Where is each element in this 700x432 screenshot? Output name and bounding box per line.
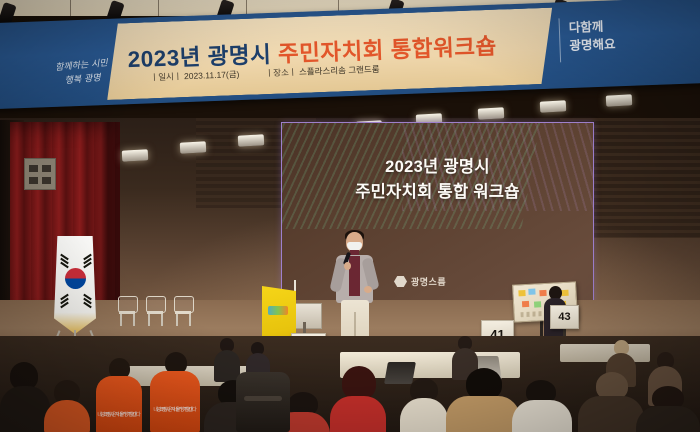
taeguk-symbol-icon bbox=[65, 268, 86, 289]
screen-logo: 광명스름 bbox=[394, 275, 446, 288]
audience-chair-back bbox=[236, 372, 290, 432]
table-placard-43: 43 bbox=[550, 305, 579, 329]
audience-person-vest: 내 고장은 내가 지킨다 광명시 자율방범대 bbox=[96, 358, 142, 432]
speaker-turtleneck bbox=[349, 256, 360, 296]
vest-text: 내 고장은 내가 지킨다 광명시 자율방범대 bbox=[150, 389, 200, 397]
speaker-hand-right bbox=[364, 286, 372, 293]
yellow-flag-emblem-icon bbox=[268, 306, 288, 315]
audience-person-vest: 내 고장은 내가 지킨다 광명시 자율방범대 bbox=[150, 352, 200, 432]
stage-chair bbox=[118, 296, 136, 326]
chair-strap bbox=[244, 396, 282, 401]
banner-date-value: 2023.11.17(금) bbox=[184, 69, 240, 81]
audience-person bbox=[0, 362, 50, 432]
screen-title-line1: 2023년 광명시 bbox=[282, 155, 593, 180]
speaker-hand-left bbox=[344, 262, 351, 270]
photo-scene: 2023년 광명시 주민자치회 통합 워크숍 광명스름 bbox=[0, 0, 700, 432]
audience-person bbox=[512, 380, 572, 432]
audience-person bbox=[330, 366, 386, 432]
audience-person bbox=[214, 338, 240, 380]
screen-logo-text: 광명스름 bbox=[411, 275, 446, 288]
banner-slogan: 다함께 광명해요 bbox=[569, 15, 690, 56]
banner-date-label: ㅣ일시ㅣ bbox=[150, 71, 182, 82]
overhead-banner: 함께하는 시민 행복 광명 2023년 광명시 주민자치회 통합워크숍 ㅣ일시ㅣ… bbox=[0, 0, 700, 129]
hexagon-logo-icon bbox=[394, 276, 407, 288]
round-table bbox=[560, 344, 650, 362]
screen-title: 2023년 광명시 주민자치회 통합 워크숍 bbox=[282, 155, 593, 205]
audience-person bbox=[400, 378, 448, 432]
speaker-figure bbox=[324, 232, 384, 350]
audience-person bbox=[578, 372, 644, 432]
audience-person bbox=[446, 368, 520, 432]
audience-person bbox=[636, 386, 700, 432]
vest-text: 내 고장은 내가 지킨다 광명시 자율방범대 bbox=[96, 394, 142, 402]
sticky-note bbox=[528, 288, 535, 294]
volunteer-vest: 내 고장은 내가 지킨다 광명시 자율방범대 bbox=[96, 376, 142, 432]
banner-place-label: ㅣ장소ㅣ bbox=[265, 67, 297, 78]
stage-chair bbox=[146, 296, 164, 326]
wall-control-panel bbox=[24, 158, 56, 190]
banner-place-value: 스플라스리솜 그랜드룸 bbox=[299, 64, 380, 77]
sticky-note bbox=[522, 301, 529, 307]
sticky-note bbox=[534, 301, 541, 307]
sticky-note bbox=[518, 290, 525, 296]
audience-person bbox=[44, 380, 90, 432]
stage-chair bbox=[174, 296, 192, 326]
volunteer-vest: 내 고장은 내가 지킨다 광명시 자율방범대 bbox=[150, 371, 200, 432]
screen-title-line2: 주민자치회 통합 워크숍 bbox=[282, 180, 593, 205]
